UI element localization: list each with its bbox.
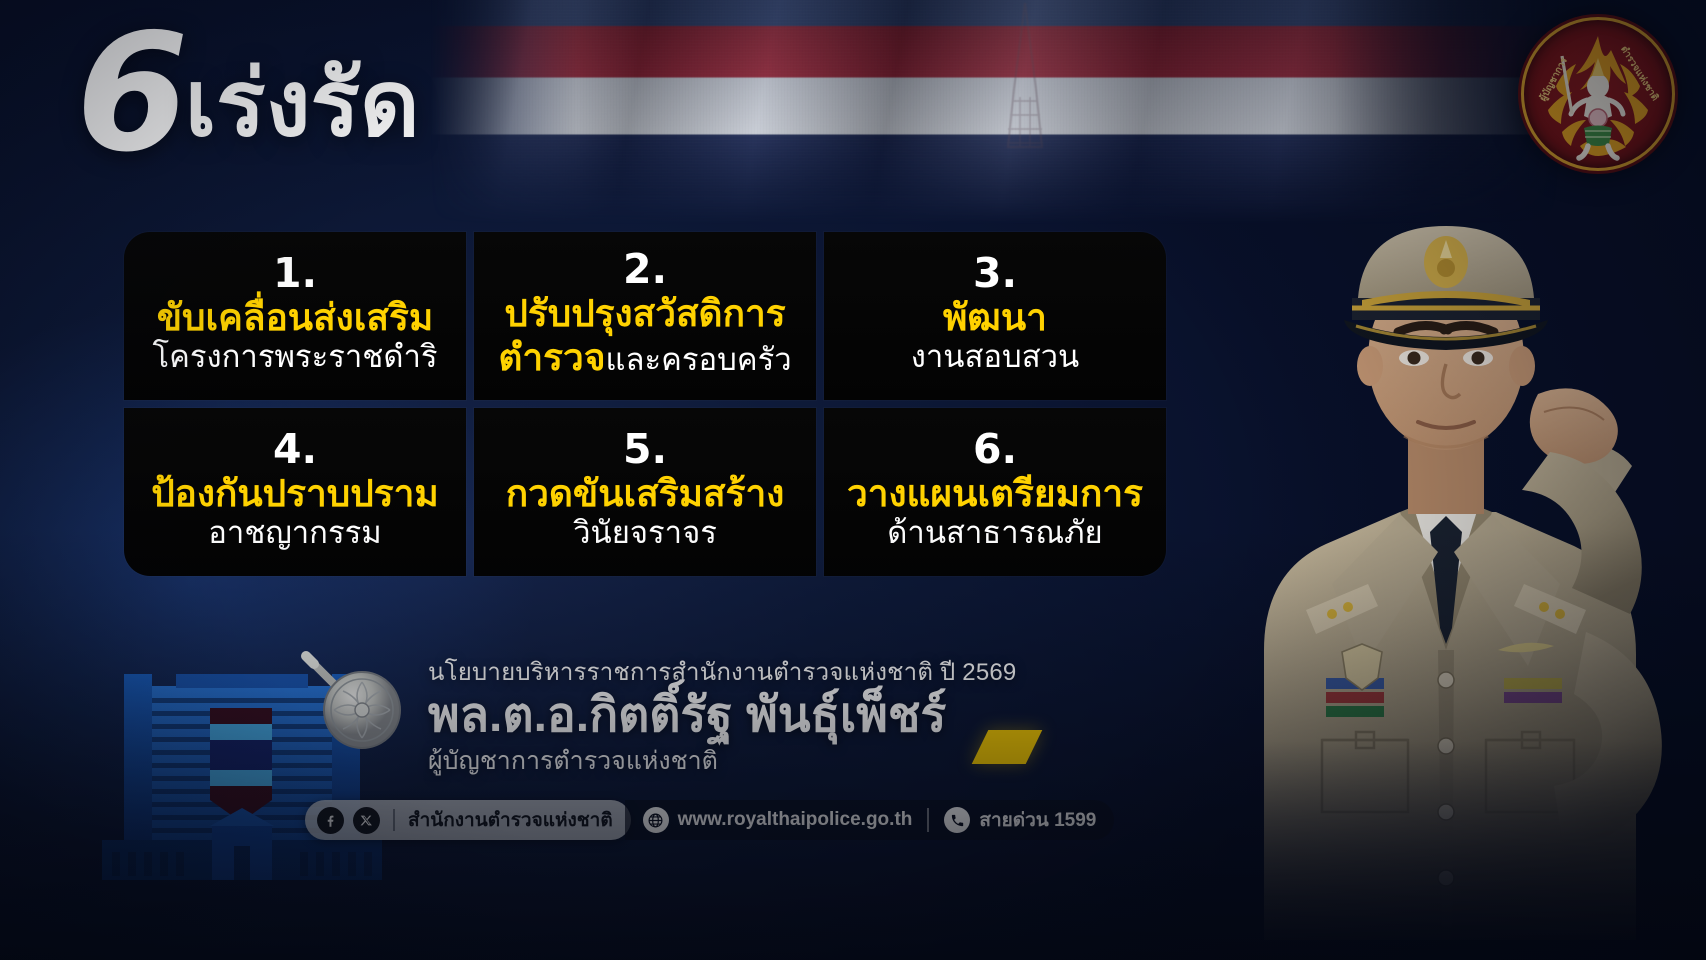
policy-card-4[interactable]: 4. ป้องกันปราบปราม อาชญากรรม	[124, 408, 466, 576]
policy-card-grid: 1. ขับเคลื่อนส่งเสริม โครงการพระราชดำริ …	[124, 232, 1166, 576]
headline: 6 เร่งรัด	[76, 28, 420, 161]
card-number: 5.	[623, 429, 667, 470]
x-twitter-icon[interactable]	[353, 807, 380, 834]
card-subtitle: โครงการพระราชดำริ	[152, 338, 437, 375]
policy-card-2[interactable]: 2. ปรับปรุงสวัสดิการ ตำรวจและครอบครัว	[474, 232, 816, 400]
flag-fold-shading	[430, 0, 1560, 224]
card-title: ปรับปรุงสวัสดิการ	[504, 292, 785, 336]
card-subtitle-accent: ตำรวจ	[498, 337, 605, 378]
card-title: กวดขันเสริมสร้าง	[506, 472, 785, 516]
card-number: 6.	[973, 429, 1017, 470]
policy-card-6[interactable]: 6. วางแผนเตรียมการ ด้านสาธารณภัย	[824, 408, 1166, 576]
thai-flag-backdrop	[430, 0, 1560, 224]
emblem-arc-right: ตำรวจแห่งชาติ	[1616, 43, 1662, 104]
police-medallion-icon	[300, 650, 404, 754]
card-subtitle-row: ตำรวจและครอบครัว	[498, 336, 791, 380]
contact-bar: สำนักงานตำรวจแห่งชาติ www.royalthaipolic…	[305, 800, 1114, 840]
card-number: 4.	[273, 429, 317, 470]
card-number: 2.	[623, 249, 667, 290]
commissioner-name: พล.ต.อ.กิตติ์รัฐ พันธุ์เพ็ชร์	[428, 689, 1068, 743]
card-subtitle: ด้านสาธารณภัย	[887, 514, 1102, 551]
card-number: 3.	[973, 253, 1017, 294]
card-title: ป้องกันปราบปราม	[151, 472, 439, 516]
headline-word: เร่งรัด	[185, 56, 420, 161]
phone-icon[interactable]	[944, 807, 970, 833]
card-subtitle: วินัยจราจร	[573, 514, 717, 551]
website-label[interactable]: www.royalthaipolice.go.th	[678, 809, 913, 831]
hotline-label[interactable]: สายด่วน 1599	[979, 805, 1096, 835]
card-subtitle: งานสอบสวน	[911, 338, 1079, 375]
facebook-icon[interactable]	[317, 807, 344, 834]
social-pill[interactable]: สำนักงานตำรวจแห่งชาติ	[305, 800, 631, 840]
pill-divider	[927, 808, 929, 832]
policy-card-3[interactable]: 3. พัฒนา งานสอบสวน	[824, 232, 1166, 400]
globe-icon[interactable]	[643, 807, 669, 833]
emblem-arc-text: ผู้บัญชาการ ตำรวจแห่งชาติ	[1518, 14, 1678, 174]
card-title: พัฒนา	[943, 296, 1047, 340]
policy-card-1[interactable]: 1. ขับเคลื่อนส่งเสริม โครงการพระราชดำริ	[124, 232, 466, 400]
web-phone-pill[interactable]: www.royalthaipolice.go.th สายด่วน 1599	[625, 800, 1115, 840]
card-title: วางแผนเตรียมการ	[847, 472, 1143, 516]
emblem-arc-left: ผู้บัญชาการ	[1536, 55, 1572, 104]
policy-line: นโยบายบริหารราชการสำนักงานตำรวจแห่งชาติ …	[428, 652, 1068, 691]
card-title: ขับเคลื่อนส่งเสริม	[157, 296, 434, 340]
card-subtitle: และครอบครัว	[606, 342, 792, 377]
card-number: 1.	[273, 253, 317, 294]
card-subtitle: อาชญากรรม	[208, 514, 381, 551]
infographic-poster: 6 เร่งรัด	[0, 0, 1706, 960]
social-label: สำนักงานตำรวจแห่งชาติ	[408, 805, 613, 835]
policy-card-5[interactable]: 5. กวดขันเสริมสร้าง วินัยจราจร	[474, 408, 816, 576]
pill-separator	[393, 809, 395, 831]
headline-number: 6	[76, 28, 183, 161]
royal-thai-police-emblem: ผู้บัญชาการ ตำรวจแห่งชาติ	[1518, 14, 1678, 174]
